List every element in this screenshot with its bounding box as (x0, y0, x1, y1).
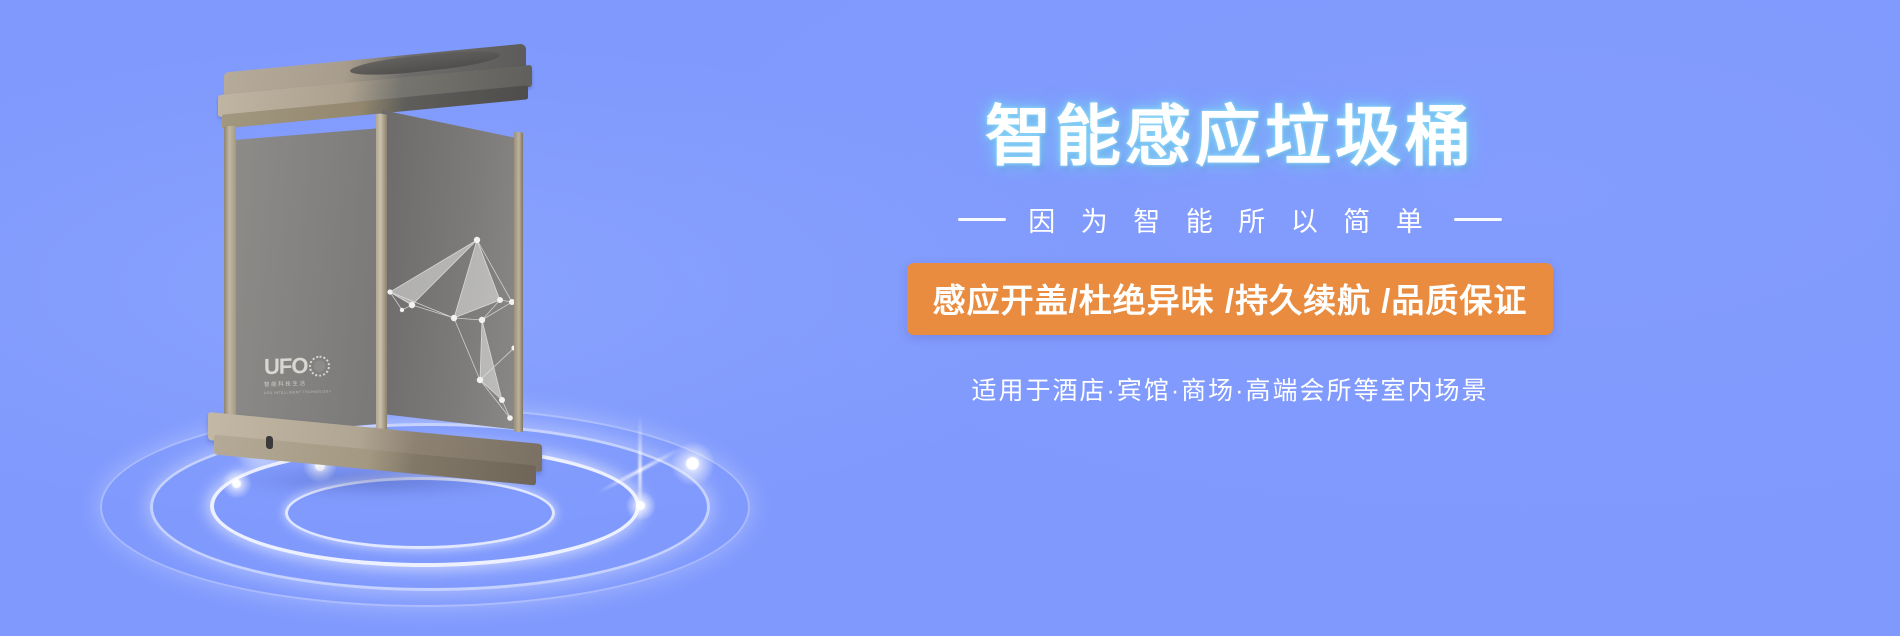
bin-edge-right (514, 132, 523, 432)
product-stage: UFO 智能科技生活 UFO INTELLIGENT TECHNOLOGY (80, 20, 780, 620)
trash-bin-image: UFO 智能科技生活 UFO INTELLIGENT TECHNOLOGY (200, 50, 560, 480)
sparkle-icon (686, 457, 699, 470)
feature-badge: 感应开盖/杜绝异味 /持久续航 /品质保证 (907, 263, 1554, 335)
bin-body: UFO 智能科技生活 UFO INTELLIGENT TECHNOLOGY (230, 110, 520, 440)
logo-chinese-tagline: 智能科技生活 (264, 378, 352, 388)
logo-mark-row: UFO (264, 354, 352, 378)
rule-left (958, 218, 1006, 221)
subtitle-row: 因 为 智 能 所 以 简 单 (860, 200, 1600, 239)
polygon-network-graphic (382, 230, 522, 430)
subtitle-text: 因 为 智 能 所 以 简 单 (1028, 200, 1432, 239)
polygon-network-svg (382, 230, 522, 430)
bin-edge-center (376, 114, 387, 435)
bin-base-slot (266, 436, 273, 450)
page-title: 智能感应垃圾桶 (860, 100, 1600, 174)
sparkle-icon (636, 501, 645, 510)
rule-right (1454, 218, 1502, 221)
logo-circle-icon (309, 355, 330, 377)
logo-wordmark: UFO (264, 355, 307, 378)
usage-scenes-text: 适用于酒店·宾馆·商场·高端会所等室内场景 (860, 371, 1600, 407)
ufo-logo: UFO 智能科技生活 UFO INTELLIGENT TECHNOLOGY (264, 354, 352, 395)
product-banner: UFO 智能科技生活 UFO INTELLIGENT TECHNOLOGY 智能… (0, 0, 1900, 636)
marketing-copy: 智能感应垃圾桶 因 为 智 能 所 以 简 单 感应开盖/杜绝异味 /持久续航 … (860, 100, 1600, 407)
bin-edge-left (224, 126, 236, 438)
